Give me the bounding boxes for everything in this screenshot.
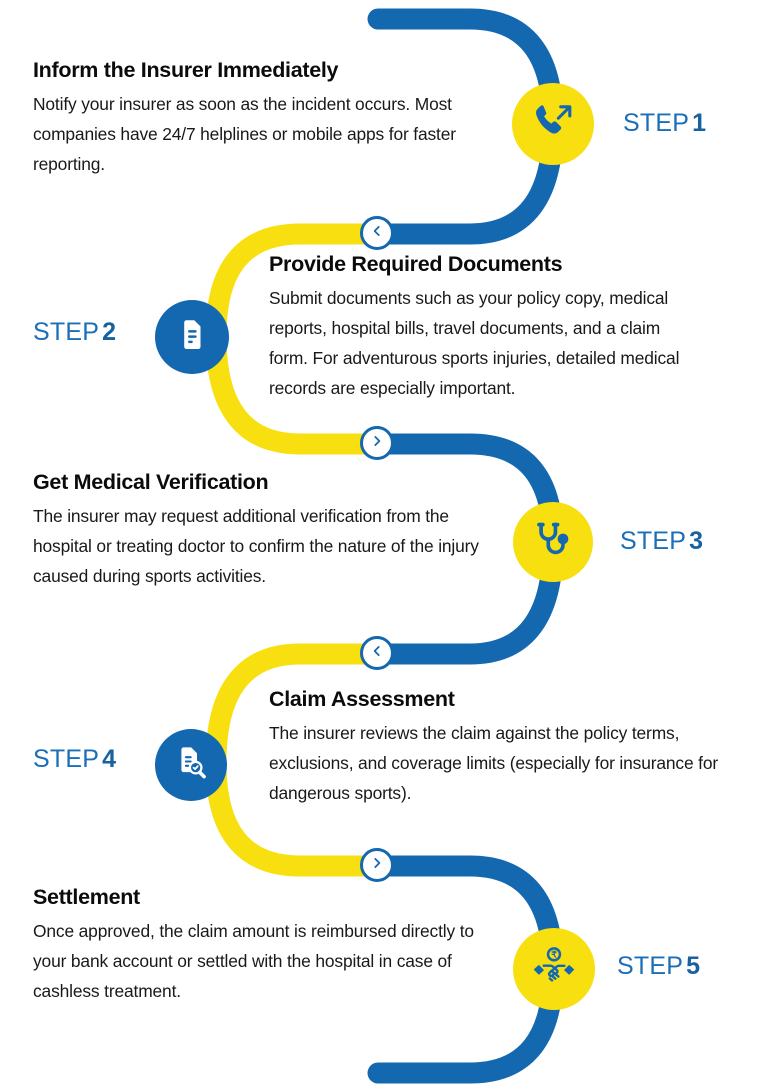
step-2-label-word: STEP xyxy=(33,318,99,346)
step-5-body: Once approved, the claim amount is reimb… xyxy=(33,917,493,1007)
step-4-text-block: Claim Assessment The insurer reviews the… xyxy=(269,687,729,809)
step-1-label-word: STEP xyxy=(623,109,689,137)
connector-4[interactable] xyxy=(360,848,394,882)
step-3-title: Get Medical Verification xyxy=(33,470,533,495)
chevron-right-icon xyxy=(370,434,384,453)
step-1-node[interactable] xyxy=(512,83,594,165)
step-2-title: Provide Required Documents xyxy=(269,252,709,277)
step-2-label-number: 2 xyxy=(102,318,116,346)
step-4-label-word: STEP xyxy=(33,745,99,773)
step-1-text-block: Inform the Insurer Immediately Notify yo… xyxy=(33,58,503,180)
step-3-label-number: 3 xyxy=(689,527,703,555)
step-2-body: Submit documents such as your policy cop… xyxy=(269,284,694,404)
step-5-label: STEP5 xyxy=(617,952,700,981)
phone-outgoing-call-icon xyxy=(532,101,574,148)
step-3-node[interactable] xyxy=(513,502,593,582)
step-3-text-block: Get Medical Verification The insurer may… xyxy=(33,470,533,592)
step-1-body: Notify your insurer as soon as the incid… xyxy=(33,90,485,180)
connector-1[interactable] xyxy=(360,216,394,250)
step-4-title: Claim Assessment xyxy=(269,687,729,712)
document-magnifier-check-icon xyxy=(173,745,209,786)
step-5-label-word: STEP xyxy=(617,952,683,980)
step-4-label: STEP4 xyxy=(33,745,116,774)
connector-2[interactable] xyxy=(360,426,394,460)
svg-text:₹: ₹ xyxy=(551,949,557,959)
step-2-text-block: Provide Required Documents Submit docume… xyxy=(269,252,709,403)
step-1-label-number: 1 xyxy=(692,109,706,137)
step-5-title: Settlement xyxy=(33,885,523,910)
step-4-node[interactable] xyxy=(155,729,227,801)
chevron-left-icon xyxy=(370,644,384,663)
step-3-label-word: STEP xyxy=(620,527,686,555)
step-1-title: Inform the Insurer Immediately xyxy=(33,58,503,83)
chevron-right-icon xyxy=(370,856,384,875)
step-1-label: STEP1 xyxy=(623,109,706,138)
stethoscope-icon xyxy=(532,519,574,566)
claim-process-infographic: Inform the Insurer Immediately Notify yo… xyxy=(0,0,769,1089)
step-5-label-number: 5 xyxy=(686,952,700,980)
connector-3[interactable] xyxy=(360,636,394,670)
handshake-rupee-icon: ₹ xyxy=(531,944,577,995)
step-4-label-number: 4 xyxy=(102,745,116,773)
step-5-text-block: Settlement Once approved, the claim amou… xyxy=(33,885,523,1007)
step-4-body: The insurer reviews the claim against th… xyxy=(269,719,719,809)
step-2-label: STEP2 xyxy=(33,318,116,347)
step-5-node[interactable]: ₹ xyxy=(513,928,595,1010)
step-3-body: The insurer may request additional verif… xyxy=(33,502,505,592)
document-lines-icon xyxy=(175,318,209,357)
step-3-label: STEP3 xyxy=(620,527,703,556)
step-2-node[interactable] xyxy=(155,300,229,374)
chevron-left-icon xyxy=(370,224,384,243)
